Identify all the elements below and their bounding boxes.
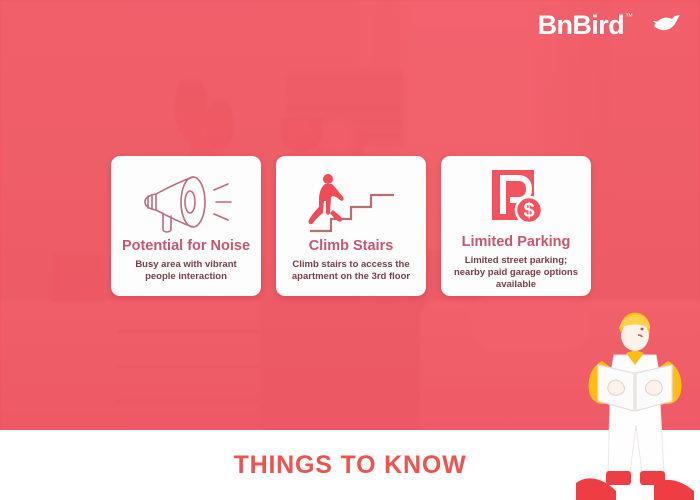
info-card-stairs[interactable]: Climb Stairs Climb stairs to access the … bbox=[276, 156, 426, 296]
slide-canvas: BnBird ™ bbox=[0, 0, 700, 500]
card-subtitle: Climb stairs to access the apartment on … bbox=[283, 259, 419, 283]
svg-text:$: $ bbox=[523, 200, 534, 222]
trademark-symbol: ™ bbox=[625, 12, 633, 21]
card-title: Potential for Noise bbox=[122, 239, 250, 255]
card-title: Limited Parking bbox=[462, 235, 571, 251]
page-title: THINGS TO KNOW bbox=[234, 451, 467, 480]
card-title: Climb Stairs bbox=[309, 239, 394, 255]
brand-name: BnBird bbox=[538, 12, 624, 39]
person-reading-book-illustration bbox=[576, 295, 694, 500]
megaphone-icon bbox=[130, 168, 242, 238]
info-card-noise[interactable]: Potential for Noise Busy area with vibra… bbox=[111, 156, 261, 296]
person-climbing-stairs-icon bbox=[297, 168, 405, 238]
card-subtitle: Busy area with vibrant people interactio… bbox=[118, 259, 254, 283]
paid-parking-icon: $ bbox=[476, 168, 556, 234]
brand-logo[interactable]: BnBird ™ bbox=[538, 12, 682, 39]
card-subtitle: Limited street parking; nearby paid gara… bbox=[448, 255, 584, 291]
info-cards-row: Potential for Noise Busy area with vibra… bbox=[111, 156, 591, 296]
info-card-parking[interactable]: $ Limited Parking Limited street parking… bbox=[441, 156, 591, 296]
bird-icon bbox=[652, 13, 682, 38]
